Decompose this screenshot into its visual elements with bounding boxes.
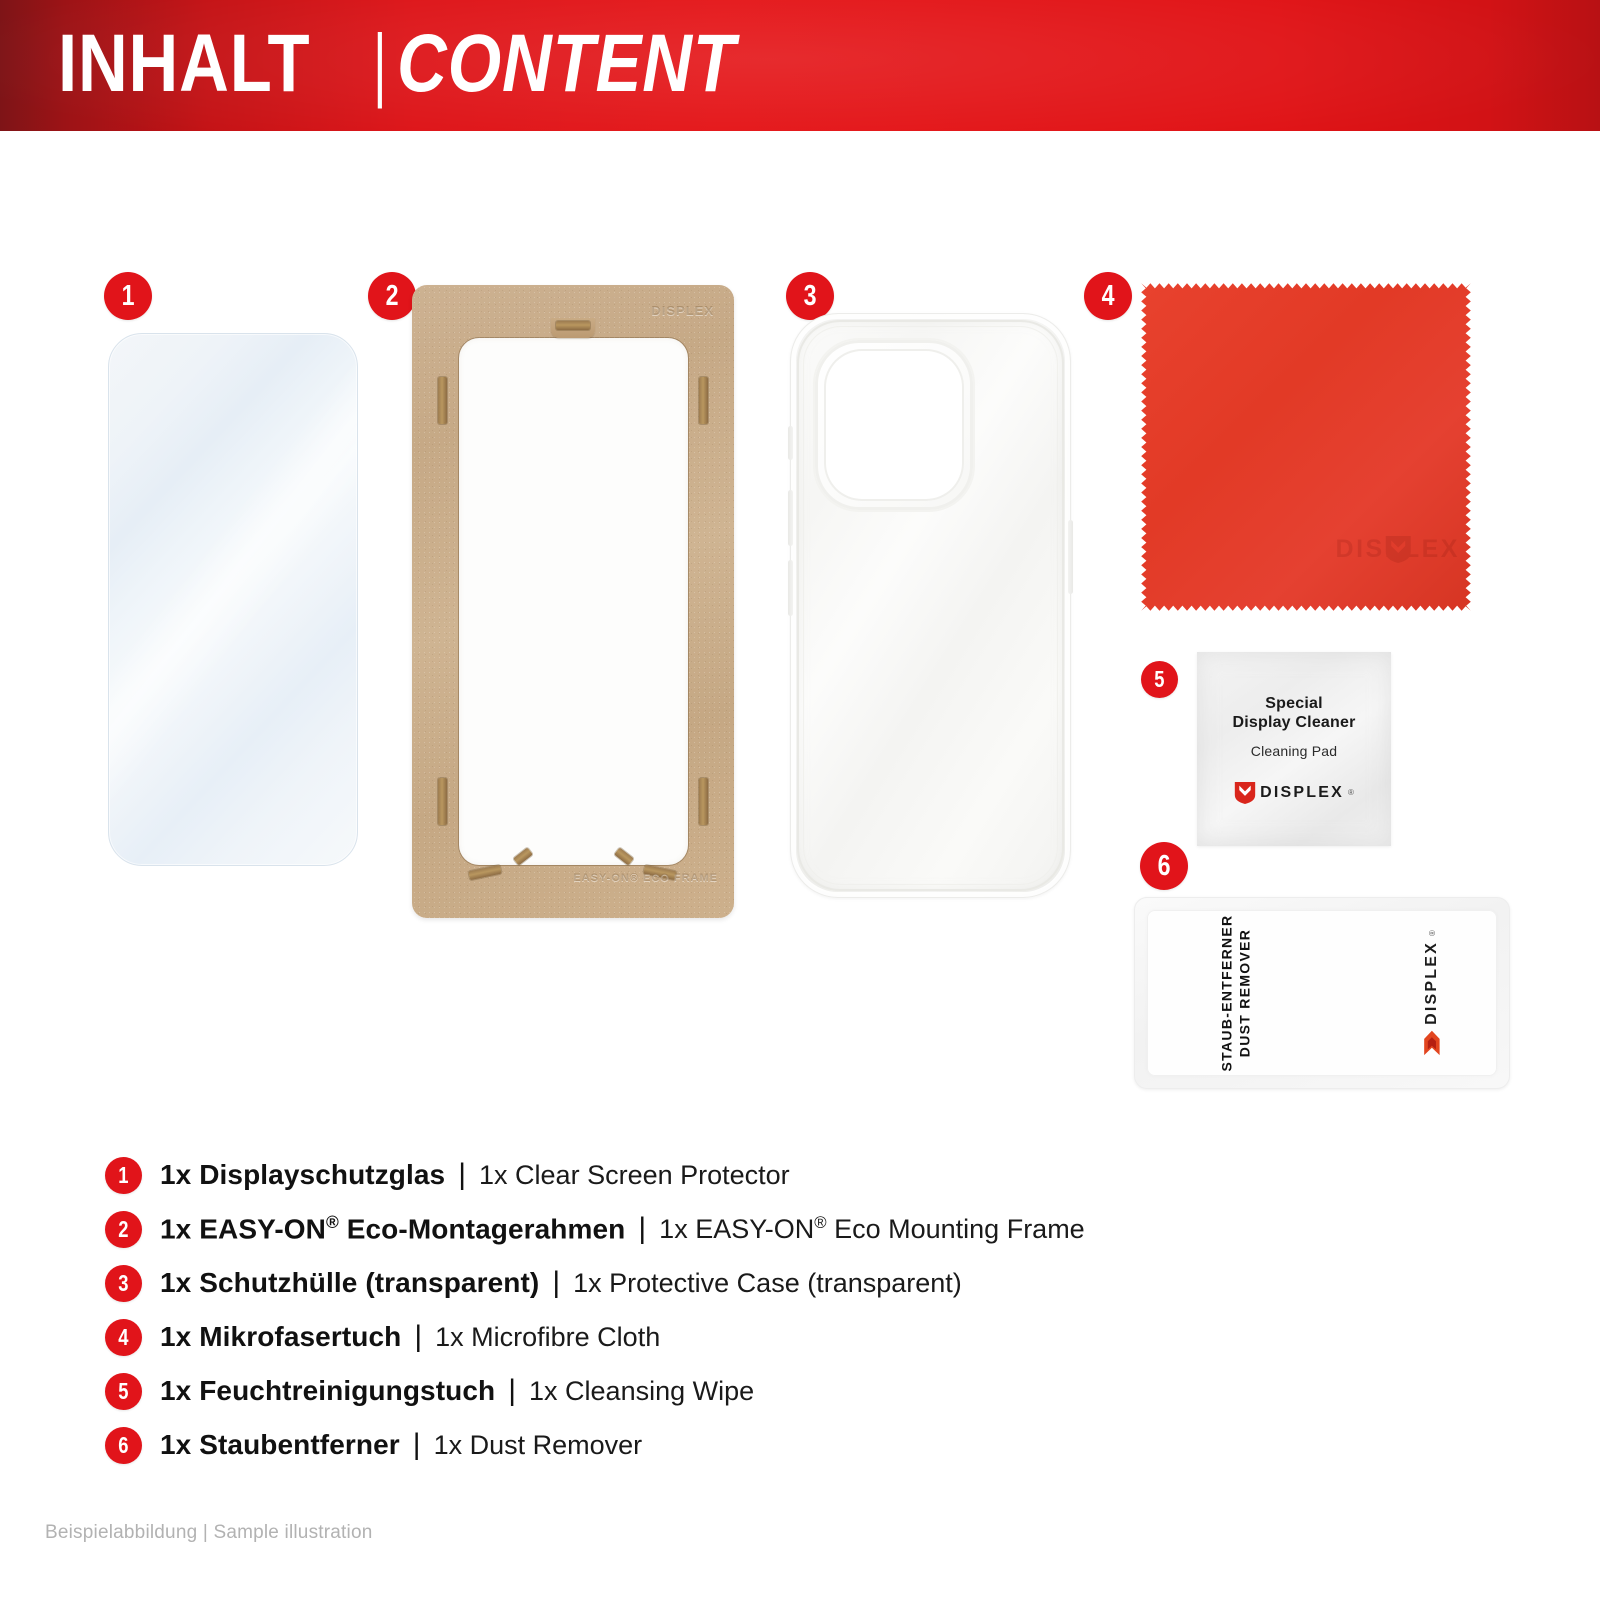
badge-item-4: 4 — [1084, 272, 1132, 320]
page-header-banner: INHALT | CONTENT — [0, 0, 1600, 131]
legend-label-german-4: 1x Mikrofasertuch — [160, 1321, 401, 1353]
legend-separator-4: | — [414, 1320, 422, 1354]
legend-label-english-1: 1x Clear Screen Protector — [479, 1160, 790, 1191]
dust-remover-label-english: DUST REMOVER — [1236, 929, 1252, 1057]
legend-row-6: 6 1x Staubentferner | 1x Dust Remover — [105, 1418, 1305, 1472]
legend-label-english-2: 1x EASY-ON® Eco Mounting Frame — [659, 1213, 1085, 1245]
page-title-english: CONTENT — [397, 16, 736, 112]
wipe-title-line2: Display Cleaner — [1232, 713, 1355, 732]
legend-label-english-3: 1x Protective Case (transparent) — [573, 1268, 962, 1299]
legend-separator-6: | — [413, 1428, 421, 1462]
product-dust-remover: STAUB-ENTFERNER DUST REMOVER DISPLEX ® — [1134, 897, 1510, 1089]
dust-remover-label-german: STAUB-ENTFERNER — [1218, 915, 1234, 1072]
dust-remover-brand-registered: ® — [1428, 930, 1437, 936]
case-camera-cutout — [824, 349, 964, 501]
frame-window-opening — [459, 338, 688, 865]
dust-remover-brand-logo: DISPLEX ® — [1421, 930, 1443, 1056]
legend-label-german-5: 1x Feuchtreinigungstuch — [160, 1375, 495, 1407]
frame-tab-top — [556, 321, 590, 330]
legend-badge-4: 4 — [105, 1319, 142, 1356]
wipe-subtitle: Cleaning Pad — [1251, 743, 1337, 759]
badge-item-3: 3 — [786, 272, 834, 320]
dust-remover-brand-text: DISPLEX — [1423, 941, 1441, 1025]
product-easy-on-eco-mounting-frame: DISPLEX EASY-ON® ECO FRAME — [412, 285, 734, 918]
legend-separator-5: | — [508, 1374, 516, 1408]
badge-item-5: 5 — [1141, 661, 1178, 698]
legend-label-english-6: 1x Dust Remover — [434, 1430, 643, 1461]
badge-item-2: 2 — [368, 272, 416, 320]
wipe-title-line1: Special — [1265, 694, 1322, 713]
frame-tab-left-lower — [438, 778, 447, 825]
frame-tab-right-lower — [699, 778, 708, 825]
frame-emboss-bottom: EASY-ON® ECO FRAME — [573, 872, 718, 884]
legend-label-german-3: 1x Schutzhülle (transparent) — [160, 1267, 539, 1299]
frame-tab-left-upper — [438, 377, 447, 424]
case-volume-down-cutout — [788, 560, 793, 616]
displex-shield-icon — [1336, 535, 1460, 564]
product-clear-screen-protector — [108, 333, 358, 866]
legend-row-3: 3 1x Schutzhülle (transparent) | 1x Prot… — [105, 1256, 1305, 1310]
legend-label-german-1: 1x Displayschutzglas — [160, 1159, 445, 1191]
badge-item-1: 1 — [104, 272, 152, 320]
product-microfibre-cloth: DISPLEX — [1136, 278, 1476, 616]
page-title-separator: | — [373, 16, 387, 112]
legend-separator-3: | — [552, 1266, 560, 1300]
legend-badge-1: 1 — [105, 1157, 142, 1194]
legend-list: 1 1x Displayschutzglas | 1x Clear Screen… — [105, 1148, 1305, 1472]
wipe-brand-text: DISPLEX — [1260, 784, 1344, 802]
legend-row-4: 4 1x Mikrofasertuch | 1x Microfibre Clot… — [105, 1310, 1305, 1364]
legend-row-1: 1 1x Displayschutzglas | 1x Clear Screen… — [105, 1148, 1305, 1202]
legend-separator-2: | — [638, 1212, 646, 1246]
legend-badge-6: 6 — [105, 1427, 142, 1464]
page-title-german: INHALT — [58, 16, 310, 112]
legend-label-english-5: 1x Cleansing Wipe — [529, 1376, 754, 1407]
wipe-brand-logo: DISPLEX ® — [1234, 781, 1354, 805]
legend-badge-3: 3 — [105, 1265, 142, 1302]
case-power-button-cutout — [1068, 520, 1073, 594]
wipe-brand-registered: ® — [1348, 788, 1354, 797]
product-cleansing-wipe: Special Display Cleaner Cleaning Pad DIS… — [1197, 652, 1391, 846]
legend-label-english-4: 1x Microfibre Cloth — [435, 1322, 660, 1353]
legend-row-5: 5 1x Feuchtreinigungstuch | 1x Cleansing… — [105, 1364, 1305, 1418]
dust-remover-card — [1147, 910, 1497, 1076]
case-mute-switch-cutout — [788, 426, 793, 460]
content-sheet: INHALT | CONTENT 1 2 DISPLEX EASY-ON® EC… — [0, 0, 1600, 1600]
frame-tab-right-upper — [699, 377, 708, 424]
legend-label-german-2: 1x EASY-ON® Eco-Montagerahmen — [160, 1212, 625, 1245]
displex-arrow-icon — [1421, 1030, 1443, 1056]
product-protective-case — [790, 313, 1071, 898]
cloth-watermark-logo: DISPLEX — [1336, 535, 1460, 564]
cloth-zigzag-shape — [1136, 278, 1476, 616]
page-title: INHALT | CONTENT — [58, 16, 800, 112]
displex-shield-icon — [1234, 781, 1256, 805]
legend-row-2: 2 1x EASY-ON® Eco-Montagerahmen | 1x EAS… — [105, 1202, 1305, 1256]
legend-label-german-6: 1x Staubentferner — [160, 1429, 400, 1461]
legend-badge-2: 2 — [105, 1211, 142, 1248]
footer-note: Beispielabbildung | Sample illustration — [45, 1522, 372, 1544]
case-volume-up-cutout — [788, 490, 793, 546]
dust-remover-label: STAUB-ENTFERNER DUST REMOVER — [1217, 915, 1253, 1072]
frame-emboss-brand: DISPLEX — [651, 303, 714, 318]
badge-item-6: 6 — [1140, 842, 1188, 890]
legend-separator-1: | — [458, 1158, 466, 1192]
legend-badge-5: 5 — [105, 1373, 142, 1410]
